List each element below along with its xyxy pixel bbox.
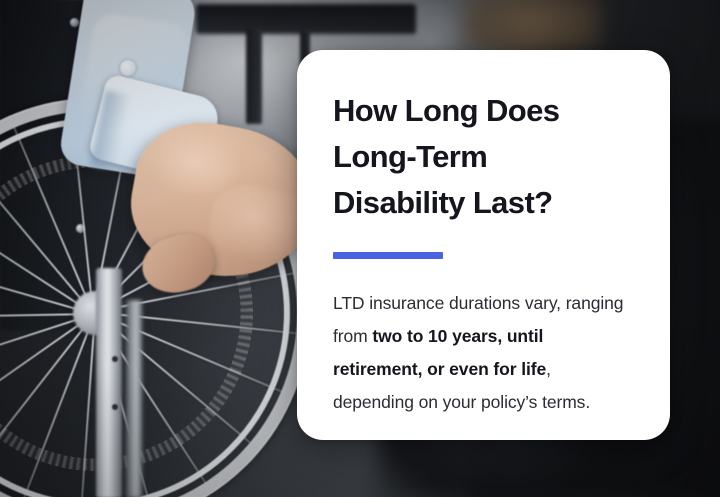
wheelchair-leg-post-secondary bbox=[126, 300, 142, 497]
graphic-canvas: How Long Does Long-Term Disability Last?… bbox=[0, 0, 720, 497]
wheelchair-leg-post bbox=[96, 268, 122, 497]
frame-bolt bbox=[112, 356, 118, 362]
panel-rivet bbox=[70, 18, 79, 27]
accent-divider bbox=[333, 252, 443, 259]
card-body-text: LTD insurance durations vary, ranging fr… bbox=[333, 287, 634, 419]
content-card: How Long Does Long-Term Disability Last?… bbox=[297, 50, 670, 440]
cuff-button-icon bbox=[120, 60, 136, 76]
page-title: How Long Does Long-Term Disability Last? bbox=[333, 88, 634, 226]
frame-bolt bbox=[112, 404, 118, 410]
